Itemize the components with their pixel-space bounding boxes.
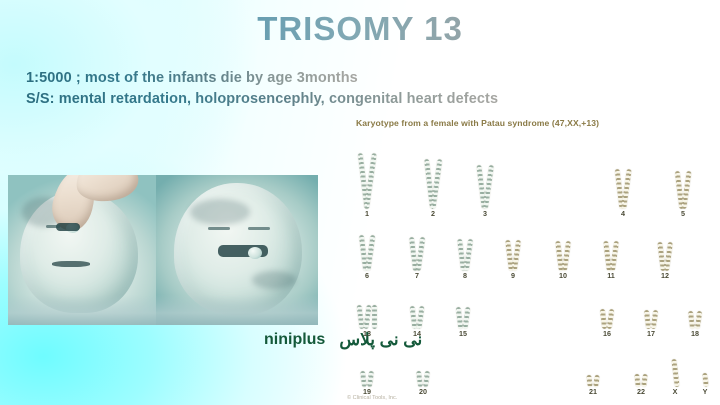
chromosome-bar [621, 169, 632, 209]
chromosome-bar [610, 241, 619, 271]
chromosome-pair [653, 222, 677, 271]
chromosome-group-11: 11 [599, 222, 623, 279]
chromosome-bar [372, 305, 377, 329]
chromosome-group-21: 21 [581, 342, 605, 395]
chromosome-label-3: 3 [473, 210, 497, 217]
chromosome-label-7: 7 [405, 272, 429, 279]
chromosome-bar [607, 309, 615, 330]
chromosome-label-2: 2 [421, 210, 445, 217]
chromosome-label-18: 18 [683, 330, 707, 337]
chromosome-group-7: 7 [405, 222, 429, 279]
chromosome-bar [641, 374, 648, 388]
copyright-notice: © Clinical Tools, Inc. [347, 395, 397, 401]
chromosome-pair [501, 222, 525, 271]
chromosome-pair [611, 140, 635, 209]
chromosome-pair [697, 342, 714, 387]
chromosome-pair [551, 222, 575, 271]
chromosome-bar [671, 359, 679, 387]
page-title: TRISOMY 13 [0, 10, 720, 48]
chromosome-label-14: 14 [405, 330, 429, 337]
chromosome-group-Y: Y [697, 342, 714, 395]
chromosome-bar [695, 311, 702, 330]
chromosome-bar [462, 307, 470, 329]
chromosome-group-17: 17 [639, 284, 663, 337]
body-line-signs-symptoms: S/S: mental retardation, holoprosencephl… [26, 91, 498, 107]
chromosome-pair [671, 140, 695, 209]
chromosome-label-8: 8 [453, 272, 477, 279]
chromosome-pair [355, 140, 379, 209]
chromosome-group-12: 12 [653, 222, 677, 279]
infant-photo-right [156, 175, 318, 325]
chromosome-bar [431, 159, 443, 209]
chromosome-label-15: 15 [451, 330, 475, 337]
chromosome-pair [421, 140, 445, 209]
chromosome-bar [366, 235, 376, 271]
chromosome-pair [629, 342, 653, 387]
chromosome-pair [599, 222, 623, 271]
chromosome-pair [355, 222, 379, 271]
chromosome-bar [416, 306, 424, 329]
chromosome-pair [581, 342, 605, 387]
chromosome-pair [683, 284, 707, 329]
chromosome-group-15: 15 [451, 284, 475, 337]
chromosome-pair [473, 140, 497, 209]
clinical-photo-group [8, 175, 318, 325]
chromosome-group-6: 6 [355, 222, 379, 279]
chromosome-pair [405, 222, 429, 271]
chromosome-label-5: 5 [671, 210, 695, 217]
chromosome-group-X: X [667, 342, 684, 395]
chromosome-group-14: 14 [405, 284, 429, 337]
chromosome-label-21: 21 [581, 388, 605, 395]
chromosome-label-12: 12 [653, 272, 677, 279]
chromosome-bar [416, 237, 426, 271]
chromosome-pair [355, 342, 379, 387]
chromosome-pair [639, 284, 663, 329]
chromosome-bar [464, 239, 473, 271]
chromosome-group-22: 22 [629, 342, 653, 395]
chromosome-bar [634, 374, 641, 388]
chromosome-label-9: 9 [501, 272, 525, 279]
chromosome-group-8: 8 [453, 222, 477, 279]
body-line-incidence: 1:5000 ; most of the infants die by age … [26, 70, 358, 86]
chromosome-bar [702, 373, 709, 388]
chromosome-bar [363, 305, 371, 329]
chromosome-bar [651, 310, 659, 330]
chromosome-label-4: 4 [611, 210, 635, 217]
chromosome-label-X: X [667, 388, 684, 395]
chromosome-bar [586, 375, 592, 388]
chromosome-label-10: 10 [551, 272, 575, 279]
chromosome-group-3: 3 [473, 140, 497, 217]
chromosome-label-20: 20 [411, 388, 435, 395]
infant-photo-left [8, 175, 156, 325]
chromosome-group-18: 18 [683, 284, 707, 337]
chromosome-bar [664, 242, 673, 271]
chromosome-bar [483, 165, 494, 209]
chromosome-bar [416, 371, 423, 387]
chromosome-label-13: 13 [352, 330, 383, 337]
chromosome-group-19: 19 [355, 342, 379, 395]
slide-canvas: TRISOMY 13 1:5000 ; most of the infants … [0, 0, 720, 405]
chromosome-pair [411, 342, 435, 387]
karyotype-row-2: 6789101112 [345, 222, 717, 282]
karyotype-row-4: 19202122XY [345, 342, 717, 398]
chromosome-group-5: 5 [671, 140, 695, 217]
karyotype-figure: Karyotype from a female with Patau syndr… [345, 118, 717, 405]
chromosome-group-10: 10 [551, 222, 575, 279]
chromosome-group-2: 2 [421, 140, 445, 217]
chromosome-pair [667, 342, 684, 387]
chromosome-bar [681, 171, 691, 209]
chromosome-pair [405, 284, 429, 329]
karyotype-row-3: 131415161718 [345, 284, 717, 340]
chromosome-label-16: 16 [595, 330, 619, 337]
chromosome-group-9: 9 [501, 222, 525, 279]
chromosome-bar [593, 375, 600, 388]
watermark-latin-text: niniplus [264, 331, 325, 349]
chromosome-group-16: 16 [595, 284, 619, 337]
chromosome-label-22: 22 [629, 388, 653, 395]
karyotype-caption: Karyotype from a female with Patau syndr… [356, 118, 599, 128]
chromosome-bar [512, 240, 521, 271]
chromosome-pair [352, 284, 383, 329]
chromosome-label-11: 11 [599, 272, 623, 279]
karyotype-row-1: 12345 [345, 140, 717, 220]
chromosome-label-Y: Y [697, 388, 714, 395]
chromosome-group-4: 4 [611, 140, 635, 217]
chromosome-label-6: 6 [355, 272, 379, 279]
chromosome-label-1: 1 [355, 210, 379, 217]
chromosome-group-20: 20 [411, 342, 435, 395]
chromosome-pair [595, 284, 619, 329]
chromosome-bar [423, 371, 430, 388]
chromosome-bar [367, 371, 374, 388]
chromosome-group-13: 13 [352, 284, 383, 337]
chromosome-group-1: 1 [355, 140, 379, 217]
chromosome-pair [451, 284, 475, 329]
chromosome-label-17: 17 [639, 330, 663, 337]
chromosome-bar [360, 371, 367, 387]
chromosome-pair [453, 222, 477, 271]
chromosome-bar [562, 241, 571, 271]
